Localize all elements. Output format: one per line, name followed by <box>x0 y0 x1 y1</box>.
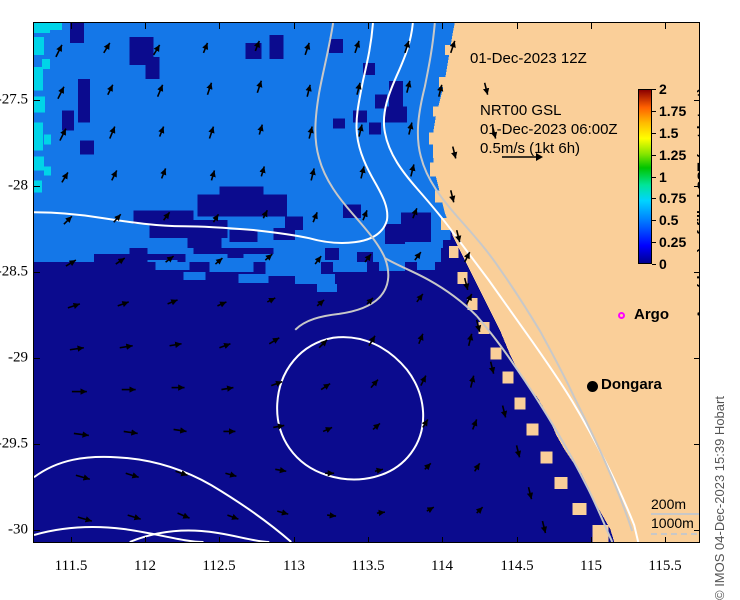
colorbar-tick-label: 0.25 <box>659 234 686 250</box>
map-plot-area: 01-Dec-2023 12Z NRT00 GSL 01-Dec-2023 06… <box>33 22 700 543</box>
sst-age-map-figure: 01-Dec-2023 12Z NRT00 GSL 01-Dec-2023 06… <box>0 0 740 592</box>
colorbar-tick-label: 1.25 <box>659 147 686 163</box>
x-tick-label: 114.5 <box>500 558 533 575</box>
copyright-notice: © IMOS 04-Dec-2023 15:39 Hobart <box>712 300 727 600</box>
depth-200-line-sample <box>651 513 700 515</box>
y-tick-label: -27.5 <box>0 92 28 109</box>
y-tick-label: -28 <box>8 178 28 195</box>
depth-200-label: 200m <box>651 495 694 514</box>
x-tick-label: 111.5 <box>55 558 88 575</box>
depth-1000-line-sample <box>651 533 700 535</box>
x-tick-label: 113 <box>283 558 305 575</box>
current-source-line: NRT00 GSL <box>480 101 618 120</box>
x-tick-label: 112.5 <box>202 558 235 575</box>
colorbar-tick-label: 1.5 <box>659 125 678 141</box>
x-tick-label: 115.5 <box>648 558 681 575</box>
x-tick-label: 113.5 <box>351 558 384 575</box>
colorbar-title: Age (days) of filled SST (wrt latest) <box>694 39 700 319</box>
current-time-line: 01-Dec-2023 06:00Z <box>480 120 618 139</box>
x-tick-label: 112 <box>134 558 156 575</box>
current-source-annotation: NRT00 GSL 01-Dec-2023 06:00Z 0.5m/s (1kt… <box>480 101 618 158</box>
colorbar-tick-label: 0.75 <box>659 190 686 206</box>
colorbar-ticks: 2 1.75 1.5 1.25 1 0.75 0.5 0.25 0 <box>652 89 700 264</box>
colorbar-tick-label: 1 <box>659 169 667 185</box>
argo-marker-icon <box>618 312 625 319</box>
y-tick-label: -29 <box>8 350 28 367</box>
valid-time-annotation: 01-Dec-2023 12Z <box>470 50 587 67</box>
y-tick-label: -29.5 <box>0 436 28 453</box>
depth-1000-label: 1000m <box>651 514 694 533</box>
y-tick-label: -30 <box>8 522 28 539</box>
x-tick-label: 115 <box>580 558 602 575</box>
colorbar-gradient <box>638 89 652 264</box>
dongara-label: Dongara <box>601 376 662 393</box>
colorbar-tick-label: 2 <box>659 81 667 97</box>
y-tick-label: -28.5 <box>0 264 28 281</box>
dongara-station-marker <box>587 381 598 392</box>
argo-legend-label: Argo <box>634 306 669 323</box>
colorbar-tick-label: 0 <box>659 256 667 272</box>
colorbar-tick-label: 0.5 <box>659 212 678 228</box>
reference-arrow-icon <box>500 151 544 163</box>
colorbar-tick-label: 1.75 <box>659 103 686 119</box>
x-tick-label: 114 <box>431 558 453 575</box>
